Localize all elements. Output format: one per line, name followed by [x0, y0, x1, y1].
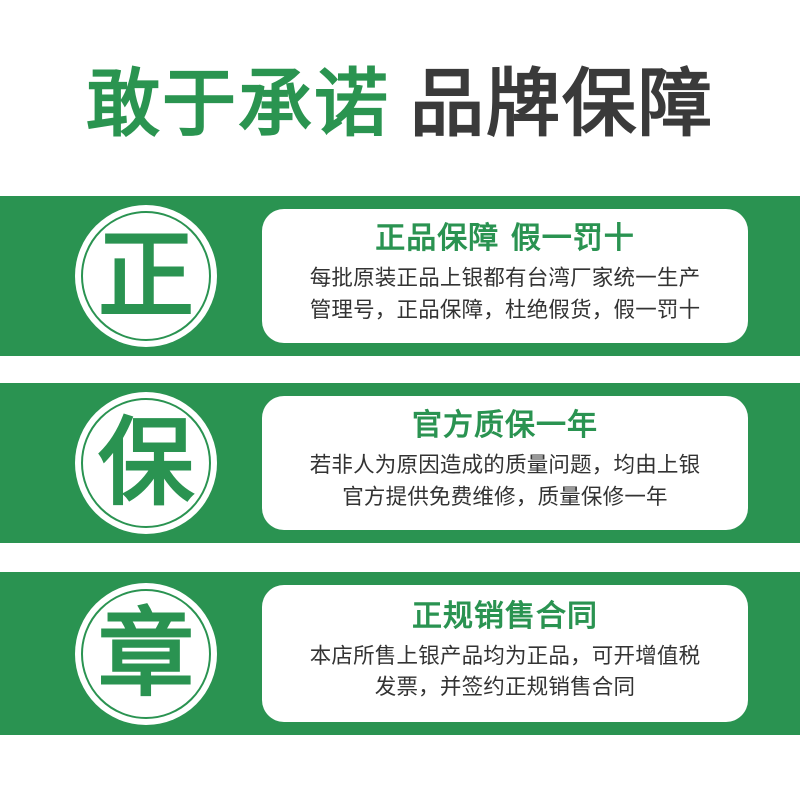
guarantee-panel: 正 正品保障 假一罚十 每批原装正品上银都有台湾厂家统一生产 管理号，正品保障，…	[0, 196, 800, 356]
card-heading: 正规销售合同	[412, 600, 598, 633]
card-body-line: 发票，并签约正规销售合同	[310, 672, 701, 703]
card-body-line: 本店所售上银产品均为正品，可开增值税	[310, 641, 701, 672]
guarantee-card: 官方质保一年 若非人为原因造成的质量问题，均由上银 官方提供免费维修，质量保修一…	[262, 396, 748, 530]
page-title-green-part: 敢于承诺	[86, 61, 390, 147]
badge-character: 保	[98, 415, 194, 511]
badge-character: 章	[98, 606, 194, 702]
card-body-line: 管理号，正品保障，杜绝假货，假一罚十	[310, 295, 701, 326]
card-body-line: 每批原装正品上银都有台湾厂家统一生产	[310, 263, 701, 294]
guarantee-panel: 保 官方质保一年 若非人为原因造成的质量问题，均由上银 官方提供免费维修，质量保…	[0, 383, 800, 543]
card-body-line: 若非人为原因造成的质量问题，均由上银	[310, 450, 701, 481]
page-title: 敢于承诺品牌保障	[86, 67, 714, 141]
badge-circle: 正	[75, 205, 217, 347]
card-body: 每批原装正品上银都有台湾厂家统一生产 管理号，正品保障，杜绝假货，假一罚十	[310, 263, 701, 325]
card-body: 若非人为原因造成的质量问题，均由上银 官方提供免费维修，质量保修一年	[310, 450, 701, 512]
page-title-dark-part: 品牌保障	[410, 61, 714, 147]
card-heading: 官方质保一年	[412, 409, 598, 442]
badge-circle: 章	[75, 583, 217, 725]
card-heading: 正品保障 假一罚十	[375, 222, 634, 255]
badge-circle: 保	[75, 392, 217, 534]
page-header: 敢于承诺品牌保障	[0, 44, 800, 164]
guarantee-card: 正品保障 假一罚十 每批原装正品上银都有台湾厂家统一生产 管理号，正品保障，杜绝…	[262, 209, 748, 343]
card-body-line: 官方提供免费维修，质量保修一年	[310, 482, 701, 513]
guarantee-panel: 章 正规销售合同 本店所售上银产品均为正品，可开增值税 发票，并签约正规销售合同	[0, 572, 800, 735]
badge-character: 正	[98, 228, 194, 324]
promo-banner: 敢于承诺品牌保障 正 正品保障 假一罚十 每批原装正品上银都有台湾厂家统一生产 …	[0, 0, 800, 800]
card-body: 本店所售上银产品均为正品，可开增值税 发票，并签约正规销售合同	[310, 641, 701, 703]
guarantee-card: 正规销售合同 本店所售上银产品均为正品，可开增值税 发票，并签约正规销售合同	[262, 585, 748, 722]
